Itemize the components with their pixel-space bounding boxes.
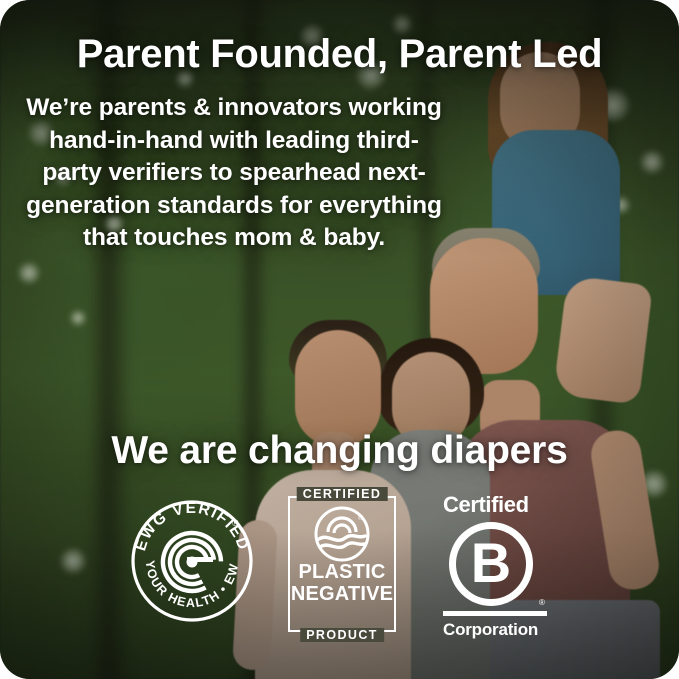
tagline: We are changing diapers	[0, 430, 679, 473]
bcorp-corporation-label: Corporation	[443, 620, 538, 640]
intro-paragraph: We’re parents & innovators working hand-…	[24, 92, 444, 255]
plastic-negative-line1: PLASTIC	[288, 562, 396, 584]
plastic-negative-certified-label: CERTIFIED	[297, 487, 388, 501]
sun-and-waves-icon: ®	[314, 506, 370, 562]
bcorp-certified-label: Certified	[443, 494, 555, 516]
bcorp-circle-icon: B	[449, 522, 533, 606]
svg-text:®: ®	[232, 518, 239, 528]
certified-b-corporation-badge: Certified B ® Corporation	[443, 494, 555, 639]
bcorp-divider	[443, 611, 547, 616]
plastic-negative-line2: NEGATIVE	[288, 584, 396, 606]
svg-text:®: ®	[358, 514, 364, 522]
ewg-verified-badge: EWG VERIFIED • FOR YOUR HEALTH • EWG.ORG…	[131, 500, 253, 622]
plastic-negative-product-label: PRODUCT	[300, 628, 384, 642]
promo-card: Parent Founded, Parent Led We’re parents…	[0, 0, 679, 679]
certified-plastic-negative-product-badge: CERTIFIED ® PLASTIC NEGATIVE PRODUCT	[288, 496, 396, 632]
page-title: Parent Founded, Parent Led	[0, 32, 679, 77]
certification-badges: EWG VERIFIED • FOR YOUR HEALTH • EWG.ORG…	[0, 494, 679, 644]
bcorp-registered-mark: ®	[539, 598, 545, 607]
bcorp-letter: B	[471, 535, 511, 591]
plastic-negative-wordmark: PLASTIC NEGATIVE	[288, 562, 396, 605]
